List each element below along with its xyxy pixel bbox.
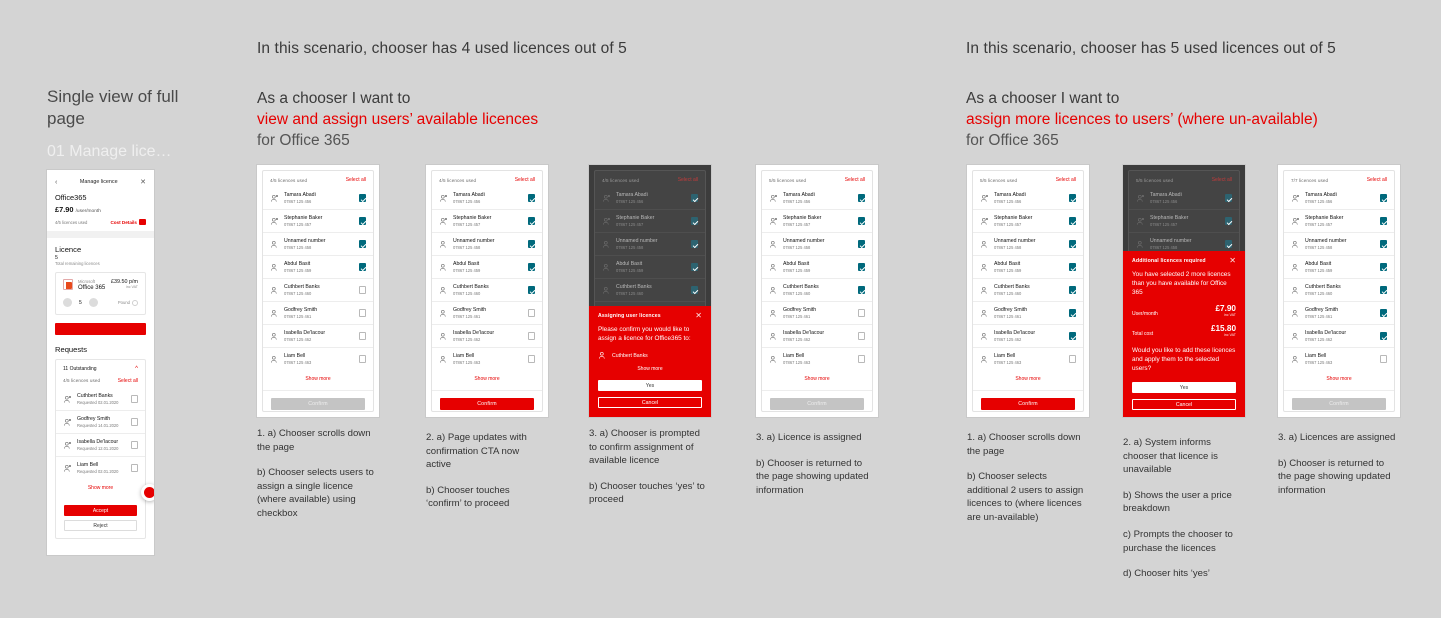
row-checkbox[interactable] [359,263,367,271]
caption-line: b) Chooser selects additional 2 users to… [967,470,1087,524]
phone-b2: 5/5 licences usedSelect allTamara Abadi0… [1123,165,1245,417]
show-more-link[interactable]: Show more [56,479,145,499]
table-row[interactable]: Liam Bell07867 125 463 [432,348,542,370]
caption-b3: 3. a) Licences are assignedb) Chooser is… [1278,431,1398,497]
table-row[interactable]: Godfrey Smith07867 125 461 [973,302,1083,325]
requests-list: Cuthbert BanksRequested 02.01.2020Godfre… [56,388,145,479]
row-number: 07867 125 459 [453,268,523,274]
row-checkbox[interactable] [691,194,699,202]
table-row[interactable]: Cuthbert Banks07867 125 460 [1284,279,1394,302]
caption-a4: 3. a) Licence is assignedb) Chooser is r… [756,431,876,497]
list-item[interactable]: Cuthbert BanksRequested 02.01.2020 [56,388,145,411]
list-footer: Confirm [973,390,1083,417]
row-checkbox[interactable] [359,217,367,225]
row-number: 07867 125 459 [616,268,686,274]
row-checkbox[interactable] [359,355,367,363]
row-text: Stephanie Baker07867 125 457 [1305,215,1375,228]
row-checkbox[interactable] [691,217,699,225]
row-number: 07867 125 461 [453,314,523,320]
avatar-icon [980,286,989,295]
licence-card-text: Microsoft Office 365 [78,279,106,291]
request-name: Godfrey Smith [77,416,126,422]
row-text: Liam Bell07867 125 463 [783,353,853,366]
row-number: 07867 125 456 [453,199,523,205]
screen-b2: 5/5 licences usedSelect allTamara Abadi0… [1123,165,1245,417]
avatar-icon [63,418,72,427]
card-vat: inc VAT [111,285,138,289]
row-text: Cuthbert Banks07867 125 460 [284,284,354,297]
caption-line: 3. a) Licences are assigned [1278,431,1398,445]
avatar-icon [1136,217,1145,226]
row-number: 07867 125 463 [1305,360,1375,366]
table-row[interactable]: Abdul Basit07867 125 459 [973,256,1083,279]
modal-title: Assigning user licences [598,313,661,319]
row-text: Stephanie Baker07867 125 457 [1150,215,1220,228]
row-text: Stephanie Baker07867 125 457 [783,215,853,228]
table-row[interactable]: Cuthbert Banks07867 125 460 [973,279,1083,302]
row-number: 07867 125 460 [783,291,853,297]
story-highlight: view and assign users’ available licence… [257,109,538,130]
pound-circle-icon [132,300,138,306]
row-checkbox[interactable] [528,286,536,294]
licence-card-row: Microsoft Office 365 £39.50 p/m inc VAT [63,279,138,291]
user-list-card: 4/5 licences usedSelect allTamara Abadi0… [262,170,374,412]
row-checkbox[interactable] [1069,286,1077,294]
avatar-icon [769,332,778,341]
row-name: Stephanie Baker [994,215,1064,221]
row-checkbox[interactable] [858,217,866,225]
row-checkbox[interactable] [1380,309,1388,317]
screen-a1: 4/5 licences usedSelect allTamara Abadi0… [257,165,379,417]
row-text: Cuthbert Banks07867 125 460 [1305,284,1375,297]
modal-show-more[interactable]: Show more [598,360,702,374]
row-checkbox[interactable] [359,194,367,202]
caption-line: 3. a) Chooser is prompted to confirm ass… [589,427,709,468]
caption-line: 2. a) Page updates with confirmation CTA… [426,431,546,472]
avatar-icon [980,194,989,203]
row-checkbox[interactable] [1380,263,1388,271]
table-row[interactable]: Abdul Basit07867 125 459 [432,256,542,279]
table-row[interactable]: Unnamed number07867 125 458 [973,233,1083,256]
table-row[interactable]: Tamara Abadi07867 125 456 [595,187,705,210]
row-checkbox[interactable] [528,263,536,271]
row-name: Godfrey Smith [994,307,1064,313]
table-row[interactable]: Stephanie Baker07867 125 457 [1284,210,1394,233]
table-row[interactable]: Godfrey Smith07867 125 461 [1284,302,1394,325]
modal-title: Additional licences required [1132,258,1206,264]
row-checkbox[interactable] [1069,217,1077,225]
row-checkbox[interactable] [528,217,536,225]
table-row[interactable]: Liam Bell07867 125 463 [263,348,373,370]
row-name: Abdul Basit [1305,261,1375,267]
table-row[interactable]: Cuthbert Banks07867 125 460 [263,279,373,302]
row-name: Abdul Basit [453,261,523,267]
modal-body: Please confirm you would like to assign … [598,325,702,343]
row-name: Liam Bell [284,353,354,359]
row-checkbox[interactable] [1380,194,1388,202]
list-item[interactable]: Godfrey SmithRequested 14.01.2020 [56,411,145,434]
row-text: Godfrey Smith07867 125 461 [453,307,523,320]
row-checkbox[interactable] [1380,286,1388,294]
select-all-link[interactable]: Select all [1212,177,1232,183]
caption-line: b) Chooser touches ‘confirm’ to proceed [426,484,546,511]
caption-line: 1. a) Chooser scrolls down the page [257,427,377,454]
confirm-button[interactable]: Confirm [271,398,365,410]
row-text: Unnamed number07867 125 458 [994,238,1064,251]
row-checkbox[interactable] [528,240,536,248]
row-text: Abdul Basit07867 125 459 [1305,261,1375,274]
table-row[interactable]: Tamara Abadi07867 125 456 [973,187,1083,210]
avatar-icon [980,332,989,341]
table-row[interactable]: Stephanie Baker07867 125 457 [762,210,872,233]
row-name: Godfrey Smith [453,307,523,313]
request-checkbox[interactable] [131,441,139,449]
row-name: Tamara Abadi [284,192,354,198]
row-number: 07867 125 463 [783,360,853,366]
row-checkbox[interactable] [858,263,866,271]
licences-used-text: 4/5 licences used [55,220,87,225]
row-text: Godfrey Smith07867 125 461 [994,307,1064,320]
additional-licences-modal: Additional licences required✕You have se… [1123,251,1245,417]
avatar-icon [769,194,778,203]
table-row[interactable]: Cuthbert Banks07867 125 460 [432,279,542,302]
table-row[interactable]: Abdul Basit07867 125 459 [762,256,872,279]
table-row[interactable]: Tamara Abadi07867 125 456 [1284,187,1394,210]
table-row[interactable]: Abdul Basit07867 125 459 [263,256,373,279]
user-rows: Tamara Abadi07867 125 456Stephanie Baker… [263,187,373,370]
select-all-link[interactable]: Select all [118,378,138,384]
row-checkbox[interactable] [1069,263,1077,271]
phone-single-view: ‹ Manage licence ✕ Office365 £7.90 /user… [47,170,154,555]
select-all-link[interactable]: Select all [678,177,698,183]
screen-b1: 5/5 licences usedSelect allTamara Abadi0… [967,165,1089,417]
row-text: Godfrey Smith07867 125 461 [284,307,354,320]
row-number: 07867 125 456 [1305,199,1375,205]
row-name: Unnamed number [783,238,853,244]
table-row[interactable]: Tamara Abadi07867 125 456 [432,187,542,210]
table-row[interactable]: Unnamed number07867 125 458 [263,233,373,256]
row-checkbox[interactable] [1380,332,1388,340]
phone-b1: 5/5 licences usedSelect allTamara Abadi0… [967,165,1089,417]
table-row[interactable]: Cuthbert Banks07867 125 460 [595,279,705,302]
price-vat: inc VAT [1216,313,1237,317]
row-text: Abdul Basit07867 125 459 [994,261,1064,274]
row-checkbox[interactable] [1069,309,1077,317]
row-checkbox[interactable] [691,240,699,248]
avatar-icon [769,286,778,295]
row-checkbox[interactable] [1225,217,1233,225]
avatar-icon [769,263,778,272]
show-more-link[interactable]: Show more [1284,370,1394,390]
quantity-stepper[interactable]: 5 Pound [63,298,138,307]
avatar-icon [270,355,279,364]
row-number: 07867 125 456 [783,199,853,205]
request-checkbox[interactable] [131,464,139,472]
confirm-button[interactable]: Confirm [440,398,534,410]
select-all-link[interactable]: Select all [346,177,366,183]
select-all-link[interactable]: Select all [845,177,865,183]
modal-header: Additional licences required✕ [1132,258,1236,264]
row-checkbox[interactable] [1380,217,1388,225]
table-row[interactable]: Isabella De'lacour07867 125 462 [1284,325,1394,348]
row-number: 07867 125 458 [783,245,853,251]
row-name: Stephanie Baker [616,215,686,221]
request-checkbox[interactable] [131,418,139,426]
show-more-link[interactable]: Show more [762,370,872,390]
caption-a3: 3. a) Chooser is prompted to confirm ass… [589,427,709,507]
row-checkbox[interactable] [528,309,536,317]
chevron-left-icon[interactable]: ‹ [55,179,57,186]
request-meta: Requested 02.01.2020 [77,400,126,406]
row-checkbox[interactable] [691,286,699,294]
primary-cta-button[interactable] [55,323,146,335]
select-all-link[interactable]: Select all [515,177,535,183]
modal-yes-button[interactable]: Yes [1132,382,1236,393]
row-checkbox[interactable] [858,286,866,294]
stepper-plus-icon[interactable] [89,298,98,307]
table-row[interactable]: Stephanie Baker07867 125 457 [432,210,542,233]
brand-mark-icon [139,219,146,225]
page-title: Single view of full page [47,86,217,130]
select-all-link[interactable]: Select all [1056,177,1076,183]
chevron-up-icon[interactable]: ^ [135,366,138,372]
row-text: Abdul Basit07867 125 459 [453,261,523,274]
close-icon[interactable]: ✕ [140,179,146,186]
close-icon[interactable]: ✕ [1229,258,1236,264]
stepper-group[interactable]: 5 [63,298,98,307]
row-name: Cuthbert Banks [1305,284,1375,290]
avatar-icon [270,263,279,272]
licence-remaining-label: Total remaining licences [47,261,154,266]
row-name: Abdul Basit [994,261,1064,267]
table-row[interactable]: Stephanie Baker07867 125 457 [1129,210,1239,233]
screen-b3: 7/7 licences usedSelect allTamara Abadi0… [1278,165,1400,417]
row-checkbox[interactable] [858,332,866,340]
row-number: 07867 125 458 [284,245,354,251]
price-label: Total cost [1132,331,1153,337]
story-highlight: assign more licences to users’ (where un… [966,109,1318,130]
table-row[interactable]: Unnamed number07867 125 458 [762,233,872,256]
row-name: Unnamed number [284,238,354,244]
table-row[interactable]: Abdul Basit07867 125 459 [1284,256,1394,279]
list-header: 5/5 licences usedSelect all [973,171,1083,187]
row-name: Isabella De'lacour [994,330,1064,336]
row-checkbox[interactable] [1225,194,1233,202]
table-row[interactable]: Abdul Basit07867 125 459 [595,256,705,279]
caption-line: 3. a) Licence is assigned [756,431,876,445]
price-value: £15.80 [1211,324,1236,333]
row-text: Stephanie Baker07867 125 457 [453,215,523,228]
avatar-icon [1136,240,1145,249]
table-row[interactable]: Tamara Abadi07867 125 456 [263,187,373,210]
row-checkbox[interactable] [858,355,866,363]
caption-a1: 1. a) Chooser scrolls down the pageb) Ch… [257,427,377,521]
close-icon[interactable]: ✕ [695,313,702,319]
row-number: 07867 125 462 [783,337,853,343]
avatar-icon [439,332,448,341]
row-checkbox[interactable] [359,309,367,317]
avatar-icon [1291,194,1300,203]
reject-button[interactable]: Reject [64,520,137,531]
confirm-button[interactable]: Confirm [1292,398,1386,410]
row-checkbox[interactable] [1225,240,1233,248]
table-row[interactable]: Isabella De'lacour07867 125 462 [432,325,542,348]
caption-b1: 1. a) Chooser scrolls down the pageb) Ch… [967,431,1087,525]
row-checkbox[interactable] [1069,194,1077,202]
table-row[interactable]: Stephanie Baker07867 125 457 [595,210,705,233]
table-row[interactable]: Godfrey Smith07867 125 461 [762,302,872,325]
list-header: 5/5 licences usedSelect all [762,171,872,187]
user-rows: Tamara Abadi07867 125 456Stephanie Baker… [973,187,1083,370]
row-number: 07867 125 460 [1305,291,1375,297]
navbar: ‹ Manage licence ✕ [55,176,146,188]
row-text: Cuthbert Banks07867 125 460 [616,284,686,297]
row-checkbox[interactable] [528,332,536,340]
row-checkbox[interactable] [1069,332,1077,340]
row-text: Abdul Basit07867 125 459 [616,261,686,274]
avatar-icon [602,217,611,226]
row-checkbox[interactable] [691,263,699,271]
row-text: Tamara Abadi07867 125 456 [1305,192,1375,205]
screen-a2: 4/5 licences usedSelect allTamara Abadi0… [426,165,548,417]
user-rows: Tamara Abadi07867 125 456Stephanie Baker… [432,187,542,370]
avatar-icon [439,240,448,249]
table-row[interactable]: Isabella De'lacour07867 125 462 [263,325,373,348]
stepper-minus-icon[interactable] [63,298,72,307]
request-checkbox[interactable] [131,395,139,403]
table-row[interactable]: Tamara Abadi07867 125 456 [762,187,872,210]
row-text: Isabella De'lacour07867 125 462 [453,330,523,343]
table-row[interactable]: Isabella De'lacour07867 125 462 [973,325,1083,348]
row-name: Isabella De'lacour [783,330,853,336]
row-checkbox[interactable] [1069,240,1077,248]
row-name: Abdul Basit [616,261,686,267]
row-checkbox[interactable] [359,240,367,248]
show-more-link[interactable]: Show more [973,370,1083,390]
select-all-link[interactable]: Select all [1367,177,1387,183]
row-name: Tamara Abadi [1150,192,1220,198]
chat-support-icon[interactable] [141,484,154,501]
row-text: Tamara Abadi07867 125 456 [994,192,1064,205]
requests-header[interactable]: 11 Outstanding ^ [56,360,145,378]
table-row[interactable]: Liam Bell07867 125 463 [973,348,1083,370]
list-item[interactable]: Isabella De'lacourRequested 12.01.2020 [56,434,145,457]
brand-lockup: Cost Details [110,219,146,225]
list-item[interactable]: Liam BellRequested 02.01.2020 [56,457,145,479]
row-checkbox[interactable] [858,309,866,317]
table-row[interactable]: Liam Bell07867 125 463 [762,348,872,370]
row-text: Stephanie Baker07867 125 457 [284,215,354,228]
avatar-icon [270,286,279,295]
row-checkbox[interactable] [359,332,367,340]
divider [47,231,154,238]
request-meta: Requested 14.01.2020 [77,423,126,429]
requests-title: Requests [47,335,154,354]
phone-b3: 7/7 licences usedSelect allTamara Abadi0… [1278,165,1400,417]
row-checkbox[interactable] [858,240,866,248]
confirm-button[interactable]: Confirm [770,398,864,410]
row-number: 07867 125 461 [994,314,1064,320]
show-more-link[interactable]: Show more [263,370,373,390]
avatar-icon [63,395,72,404]
row-number: 07867 125 458 [1305,245,1375,251]
row-text: Liam Bell07867 125 463 [1305,353,1375,366]
show-more-link[interactable]: Show more [432,370,542,390]
row-name: Liam Bell [453,353,523,359]
pound-toggle[interactable]: Pound [118,300,138,306]
row-number: 07867 125 462 [284,337,354,343]
row-checkbox[interactable] [528,194,536,202]
row-checkbox[interactable] [528,355,536,363]
row-name: Cuthbert Banks [453,284,523,290]
row-checkbox[interactable] [858,194,866,202]
screen-a4: 5/5 licences usedSelect allTamara Abadi0… [756,165,878,417]
price-row-user-month: User/month£7.90inc VAT [1132,304,1236,317]
row-checkbox[interactable] [1380,240,1388,248]
modal-cancel-button[interactable]: Cancel [1132,399,1236,410]
row-number: 07867 125 463 [453,360,523,366]
table-row[interactable]: Tamara Abadi07867 125 456 [1129,187,1239,210]
table-row[interactable]: Isabella De'lacour07867 125 462 [762,325,872,348]
phone-a4: 5/5 licences usedSelect allTamara Abadi0… [756,165,878,417]
row-name: Isabella De'lacour [284,330,354,336]
avatar-icon [980,240,989,249]
request-meta: Requested 02.01.2020 [77,469,126,475]
table-row[interactable]: Stephanie Baker07867 125 457 [263,210,373,233]
row-number: 07867 125 457 [783,222,853,228]
modal-body-secondary: Would you like to add these licences and… [1132,346,1236,373]
table-row[interactable]: Stephanie Baker07867 125 457 [973,210,1083,233]
accept-button[interactable]: Accept [64,505,137,516]
avatar-icon [1291,309,1300,318]
avatar-icon [1291,217,1300,226]
row-text: Isabella De'lacourRequested 12.01.2020 [77,439,126,452]
modal-cancel-button[interactable]: Cancel [598,397,702,408]
table-row[interactable]: Godfrey Smith07867 125 461 [432,302,542,325]
price-amount: £7.90 [55,205,74,214]
table-row[interactable]: Cuthbert Banks07867 125 460 [762,279,872,302]
row-number: 07867 125 460 [616,291,686,297]
chat-bubble-dot [144,487,154,498]
row-text: Isabella De'lacour07867 125 462 [1305,330,1375,343]
user-rows: Tamara Abadi07867 125 456Stephanie Baker… [762,187,872,370]
row-text: Stephanie Baker07867 125 457 [994,215,1064,228]
row-checkbox[interactable] [1069,355,1077,363]
confirm-button[interactable]: Confirm [981,398,1075,410]
avatar-icon [270,194,279,203]
price-unit: /user/month [76,209,101,214]
list-footer: Confirm [762,390,872,417]
list-footer: Confirm [263,390,373,417]
caption-line: b) Chooser is returned to the page showi… [1278,457,1398,498]
licences-used-text: 4/5 licences used [439,178,476,183]
table-row[interactable]: Liam Bell07867 125 463 [1284,348,1394,370]
licence-card[interactable]: Microsoft Office 365 £39.50 p/m inc VAT … [55,272,146,315]
story-sub: for Office 365 [966,130,1318,151]
table-row[interactable]: Godfrey Smith07867 125 461 [263,302,373,325]
row-checkbox[interactable] [359,286,367,294]
row-name: Stephanie Baker [1150,215,1220,221]
table-row[interactable]: Unnamed number07867 125 458 [432,233,542,256]
row-name: Godfrey Smith [783,307,853,313]
modal-yes-button[interactable]: Yes [598,380,702,391]
row-number: 07867 125 457 [284,222,354,228]
table-row[interactable]: Unnamed number07867 125 458 [1284,233,1394,256]
row-text: Liam Bell07867 125 463 [284,353,354,366]
table-row[interactable]: Unnamed number07867 125 458 [595,233,705,256]
row-name: Isabella De'lacour [1305,330,1375,336]
row-checkbox[interactable] [1380,355,1388,363]
